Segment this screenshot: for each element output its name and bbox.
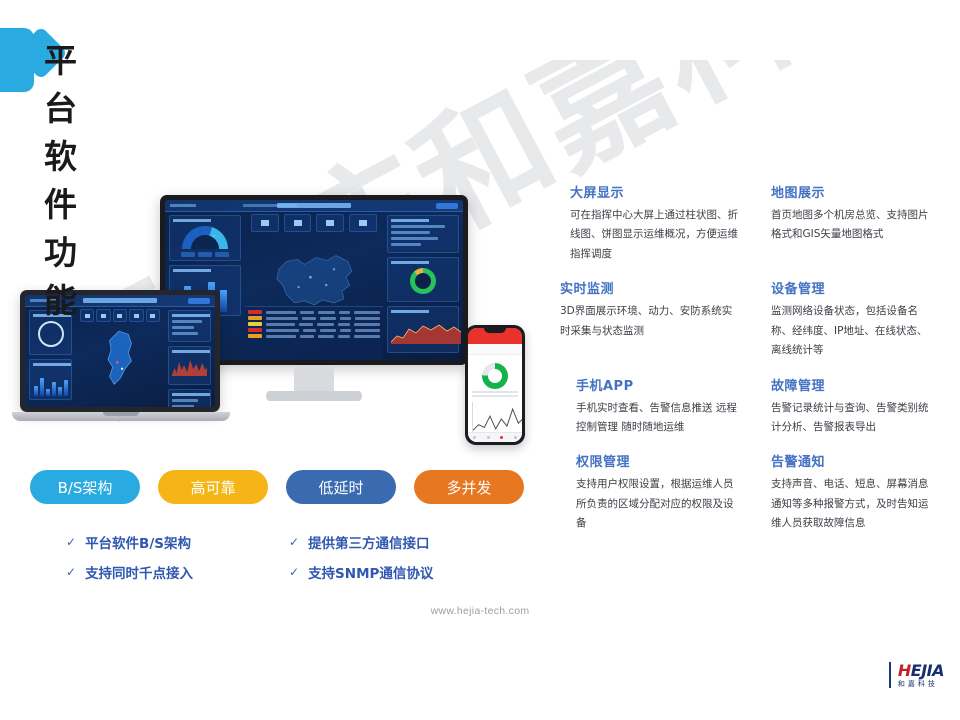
panel-heading [33,363,71,366]
kpi-row [251,214,377,232]
feature-checklist: ✓ 平台软件B/S架构 ✓ 提供第三方通信接口 ✓ 支持同时千点接入 ✓ 支持S… [66,532,486,582]
monitor-stand-base [266,391,362,401]
gauge-legend [173,252,237,257]
bar-panel [29,359,72,400]
trend-panel [168,346,211,385]
feature-title: 设备管理 [771,278,936,297]
kpi-card [80,309,94,322]
topbar-left-text [170,204,196,207]
dashboard-right-column [164,306,215,407]
slide-root: 石家庄和嘉科技有限公司 平台软件功能 [0,0,960,720]
checklist-item: ✓ 支持SNMP通信协议 [289,562,486,582]
device-mockup-group [10,185,550,450]
phone-filter-bar [468,344,522,355]
kpi-row [80,309,160,322]
kpi-card [316,214,344,232]
alarm-table [245,306,382,360]
tab-device[interactable] [487,436,490,439]
feature-title: 告警通知 [771,451,936,470]
pill-low-latency[interactable]: 低延时 [286,470,396,504]
topbar-button [188,298,210,304]
dashboard-title-bar [83,298,157,303]
pill-label: 低延时 [318,477,363,498]
checklist-item: ✓ 平台软件B/S架构 [66,532,263,552]
table-row [248,316,379,320]
feature-row: 手机APP 手机实时查看、告警信息推送 远程控制管理 随时随地运维 故障管理 告… [560,375,950,452]
feature-body: 首页地图多个机房总览、支持图片格式和GIS矢量地图格式 [771,206,936,245]
feature-row: 实时监测 3D界面展示环境、动力、安防系统实时采集与状态监测 设备管理 监测网络… [560,278,950,374]
gauge-panel [169,215,241,261]
feature-card-mobile-app: 手机APP 手机实时查看、告警信息推送 远程控制管理 随时随地运维 [560,375,755,438]
feature-card-fault-management: 故障管理 告警记录统计与查询、告警类别统计分析、告警报表导出 [755,375,950,438]
feature-title: 权限管理 [576,451,741,470]
page-title: 平台软件功能 [44,34,79,322]
panel-heading [173,219,211,222]
check-icon: ✓ [66,566,76,578]
checklist-label: 提供第三方通信接口 [308,532,430,552]
table-row [248,334,379,338]
kpi-card [113,309,127,322]
dashboard-right-column [383,211,463,360]
feature-body: 告警记录统计与查询、告警类别统计分析、告警报表导出 [771,399,936,438]
checklist-item: ✓ 支持同时千点接入 [66,562,263,582]
phone-donut-chart [482,363,508,389]
feature-row: 权限管理 支持用户权限设置，根据运维人员所负责的区域分配对应的权限及设备 告警通… [560,451,950,547]
check-icon: ✓ [66,536,76,548]
panel-heading [173,269,211,272]
panel-heading [172,350,210,353]
table-row [248,310,379,314]
check-icon: ✓ [289,536,299,548]
pill-bs-architecture[interactable]: B/S架构 [30,470,140,504]
pill-label: 多并发 [446,477,491,498]
feature-card-alarm-notification: 告警通知 支持声音、电话、短息、屏幕消息通知等多种报警方式，及时告知运维人员获取… [755,451,950,533]
panel-heading [172,314,210,317]
topbar-nav [243,204,297,207]
donut-panel [387,257,459,302]
panel-heading [172,393,210,396]
phone-device [465,325,525,445]
feature-card-large-screen: 大屏显示 可在指挥中心大屏上通过柱状图、折线图、饼图显示运维概况，方便运维指挥调… [560,182,755,264]
table-row [248,322,379,326]
logo-initial: H [898,661,911,680]
laptop-hinge-notch [103,412,139,416]
kpi-card [349,214,377,232]
panel-heading [391,310,429,313]
checklist-item: ✓ 提供第三方通信接口 [289,532,486,552]
check-icon: ✓ [289,566,299,578]
tab-alarm[interactable] [500,436,503,439]
monitor-stand-neck [294,365,334,393]
feature-title: 大屏显示 [570,182,741,201]
alarm-list-panel [168,389,211,407]
logo-text-block: HEJIA 和嘉科技 [898,663,944,688]
table-row [248,328,379,332]
kpi-card [251,214,279,232]
feature-title: 实时监测 [560,278,741,297]
donut-chart [410,268,436,294]
feature-body: 支持声音、电话、短息、屏幕消息通知等多种报警方式，及时告知运维人员获取故障信息 [771,475,936,533]
ranking-panel [387,215,459,253]
area-chart [391,316,461,344]
feature-body: 3D界面展示环境、动力、安防系统实时采集与状态监测 [560,302,741,341]
feature-row: 大屏显示 可在指挥中心大屏上通过柱状图、折线图、饼图显示运维概况，方便运维指挥调… [560,182,950,278]
kpi-card [129,309,143,322]
company-logo: HEJIA 和嘉科技 [889,662,944,688]
region-map-icon [96,328,145,391]
pill-high-reliability[interactable]: 高可靠 [158,470,268,504]
feature-title: 手机APP [576,375,741,394]
phone-tabbar[interactable] [468,432,522,442]
tab-home[interactable] [473,436,476,439]
phone-stat-rows [472,391,518,397]
checklist-label: 支持SNMP通信协议 [308,562,433,582]
phone-notch [484,328,506,333]
phone-body [465,325,525,445]
feature-card-permission-management: 权限管理 支持用户权限设置，根据运维人员所负责的区域分配对应的权限及设备 [560,451,755,533]
logo-divider-icon [889,662,891,688]
ring-chart [38,321,64,347]
topbar-button [436,203,458,209]
feature-card-realtime-monitoring: 实时监测 3D界面展示环境、动力、安防系统实时采集与状态监测 [560,278,755,360]
website-url: www.hejia-tech.com [0,605,960,617]
pill-high-concurrency[interactable]: 多并发 [414,470,524,504]
feature-grid: 大屏显示 可在指挥中心大屏上通过柱状图、折线图、饼图显示运维概况，方便运维指挥调… [560,182,950,548]
pill-label: B/S架构 [58,477,113,498]
bar-chart [33,369,68,396]
logo-name: EJIA [911,661,944,680]
checklist-label: 支持同时千点接入 [85,562,193,582]
checklist-label: 平台软件B/S架构 [85,532,191,552]
logo-subtitle: 和嘉科技 [898,681,944,688]
feature-body: 监测网络设备状态，包括设备名称、经纬度、IP地址、在线状态、离线统计等 [771,302,936,360]
feature-body: 手机实时查看、告警信息推送 远程控制管理 随时随地运维 [576,399,741,438]
kpi-card [284,214,312,232]
kpi-card [96,309,110,322]
logo-wordmark: HEJIA [898,663,944,679]
kpi-card [146,309,160,322]
feature-title: 故障管理 [771,375,936,394]
tag-pill-row: B/S架构 高可靠 低延时 多并发 [30,470,524,504]
dashboard-center-column [245,211,382,360]
dashboard-center-column [76,306,163,407]
panel-heading [391,219,429,222]
feature-body: 可在指挥中心大屏上通过柱状图、折线图、饼图显示运维概况，方便运维指挥调度 [570,206,741,264]
spike-chart [172,356,207,376]
tab-me[interactable] [514,436,517,439]
feature-body: 支持用户权限设置，根据运维人员所负责的区域分配对应的权限及设备 [576,475,741,533]
info-panel [168,310,211,342]
panel-heading [391,261,429,264]
feature-card-device-management: 设备管理 监测网络设备状态，包括设备名称、经纬度、IP地址、在线状态、离线统计等 [755,278,950,360]
trend-panel [387,306,459,353]
pill-label: 高可靠 [190,477,235,498]
header-accent-arrow-icon [0,28,34,92]
phone-screen [468,328,522,442]
feature-card-map-display: 地图展示 首页地图多个机房总览、支持图片格式和GIS矢量地图格式 [755,182,950,264]
feature-title: 地图展示 [771,182,936,201]
gauge-chart [182,226,228,249]
